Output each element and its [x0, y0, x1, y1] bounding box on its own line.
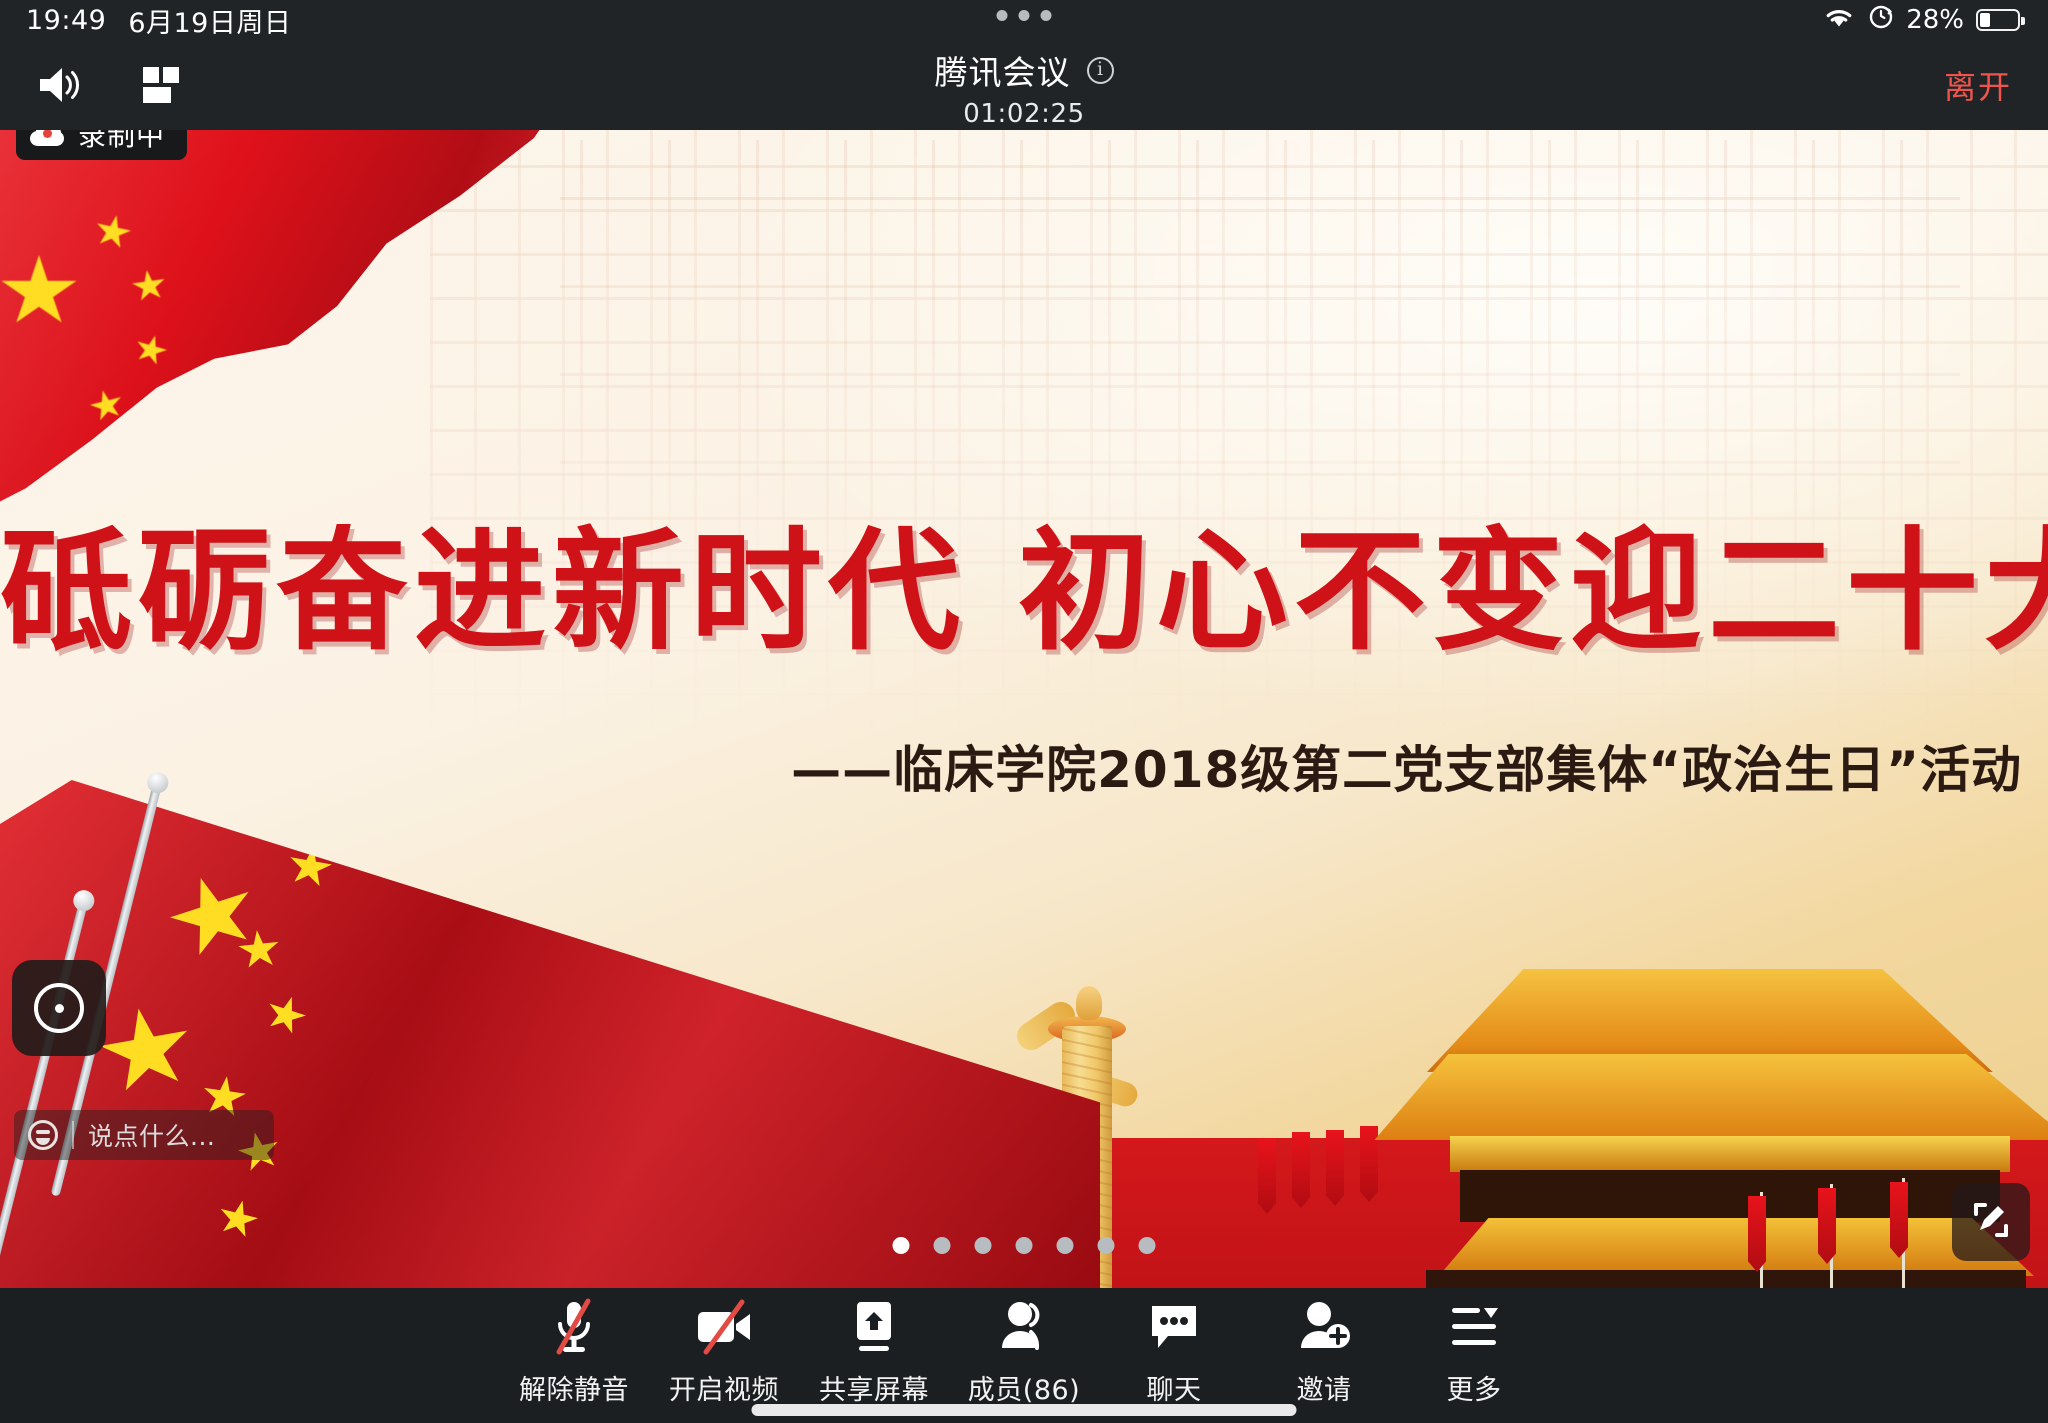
mic-muted-icon — [544, 1296, 604, 1358]
pager-dot-7[interactable] — [1139, 1237, 1156, 1254]
slide-subtitle: ——临床学院2018级第二党支部集体“政治生日”活动 — [791, 730, 2022, 802]
status-date: 6月19日周日 — [128, 1, 291, 40]
waving-flags — [0, 780, 1100, 1288]
meeting-title-block: 腾讯会议 i 01:02:25 — [714, 46, 1334, 129]
floating-self-view-panel[interactable] — [12, 960, 106, 1056]
invite-button[interactable]: 邀请 — [1249, 1296, 1399, 1407]
status-bar-left: 19:49 6月19日周日 — [26, 0, 291, 40]
pencil-annotate-icon — [1968, 1197, 2014, 1247]
emoji-icon[interactable] — [28, 1120, 58, 1150]
annotate-button[interactable] — [1952, 1183, 2030, 1261]
status-bar: 19:49 6月19日周日 28% — [0, 0, 2048, 40]
slide-image: 世界人民大团结万岁 中华人民共和国万岁 砥砺奋进新时代 初心不变迎二十大 ——临… — [0, 100, 2048, 1288]
home-indicator[interactable] — [752, 1404, 1297, 1416]
chat-label: 聊天 — [1147, 1368, 1202, 1407]
start-video-button[interactable]: 开启视频 — [649, 1296, 799, 1407]
chat-button[interactable]: 聊天 — [1099, 1296, 1249, 1407]
handle-dot — [997, 10, 1008, 21]
more-label: 更多 — [1447, 1368, 1502, 1407]
pager-dot-1[interactable] — [893, 1237, 910, 1254]
battery-percent: 28% — [1906, 5, 1964, 35]
share-screen-icon — [845, 1296, 903, 1358]
unmute-button[interactable]: 解除静音 — [499, 1296, 649, 1407]
status-bar-right: 28% — [1822, 0, 2020, 40]
camera-off-icon — [692, 1296, 756, 1358]
meeting-timer: 01:02:25 — [714, 99, 1334, 129]
page-title: 腾讯会议 — [935, 46, 1071, 94]
pager-dot-6[interactable] — [1098, 1237, 1115, 1254]
participants-icon — [995, 1296, 1053, 1358]
pager-dot-4[interactable] — [1016, 1237, 1033, 1254]
handle-dot — [1041, 10, 1052, 21]
chat-input-placeholder: 说点什么... — [88, 1117, 215, 1153]
participants-label: 成员(86) — [968, 1368, 1080, 1407]
battery-icon — [1976, 9, 2020, 31]
speaker-icon[interactable] — [34, 58, 88, 112]
share-screen-label: 共享屏幕 — [819, 1368, 929, 1407]
shared-content-stage[interactable]: 世界人民大团结万岁 中华人民共和国万岁 砥砺奋进新时代 初心不变迎二十大 ——临… — [0, 100, 2048, 1288]
handle-dot — [1019, 10, 1030, 21]
participants-button[interactable]: 成员(86) — [949, 1296, 1099, 1407]
slide-pager[interactable] — [893, 1237, 1156, 1254]
share-screen-button[interactable]: 共享屏幕 — [799, 1296, 949, 1407]
pager-dot-2[interactable] — [934, 1237, 951, 1254]
meeting-toolbar: 解除静音 开启视频 共享屏幕 — [0, 1288, 2048, 1423]
target-dot-icon — [34, 983, 84, 1033]
multitask-handle[interactable] — [997, 10, 1052, 21]
pager-dot-5[interactable] — [1057, 1237, 1074, 1254]
invite-person-icon — [1294, 1296, 1354, 1358]
invite-label: 邀请 — [1297, 1368, 1352, 1407]
tiananmen-gate: 世界人民大团结万岁 中华人民共和国万岁 — [1330, 840, 2048, 1288]
unmute-label: 解除静音 — [519, 1368, 629, 1407]
leave-button[interactable]: 离开 — [1944, 40, 2012, 130]
more-button[interactable]: 更多 — [1399, 1296, 1549, 1407]
wifi-icon — [1822, 4, 1856, 37]
rotation-lock-icon — [1868, 4, 1894, 37]
slide-headline: 砥砺奋进新时代 初心不变迎二十大 — [0, 485, 2048, 676]
info-icon[interactable]: i — [1087, 57, 1114, 84]
more-menu-icon — [1444, 1296, 1504, 1358]
status-time: 19:49 — [26, 5, 106, 36]
meeting-header: 腾讯会议 i 01:02:25 离开 — [0, 40, 2048, 130]
chat-bubble-icon — [1144, 1296, 1204, 1358]
chat-input[interactable]: 说点什么... — [14, 1110, 274, 1160]
pager-dot-3[interactable] — [975, 1237, 992, 1254]
header-left-icons — [34, 40, 188, 130]
layout-switch-icon[interactable] — [134, 58, 188, 112]
start-video-label: 开启视频 — [669, 1368, 779, 1407]
